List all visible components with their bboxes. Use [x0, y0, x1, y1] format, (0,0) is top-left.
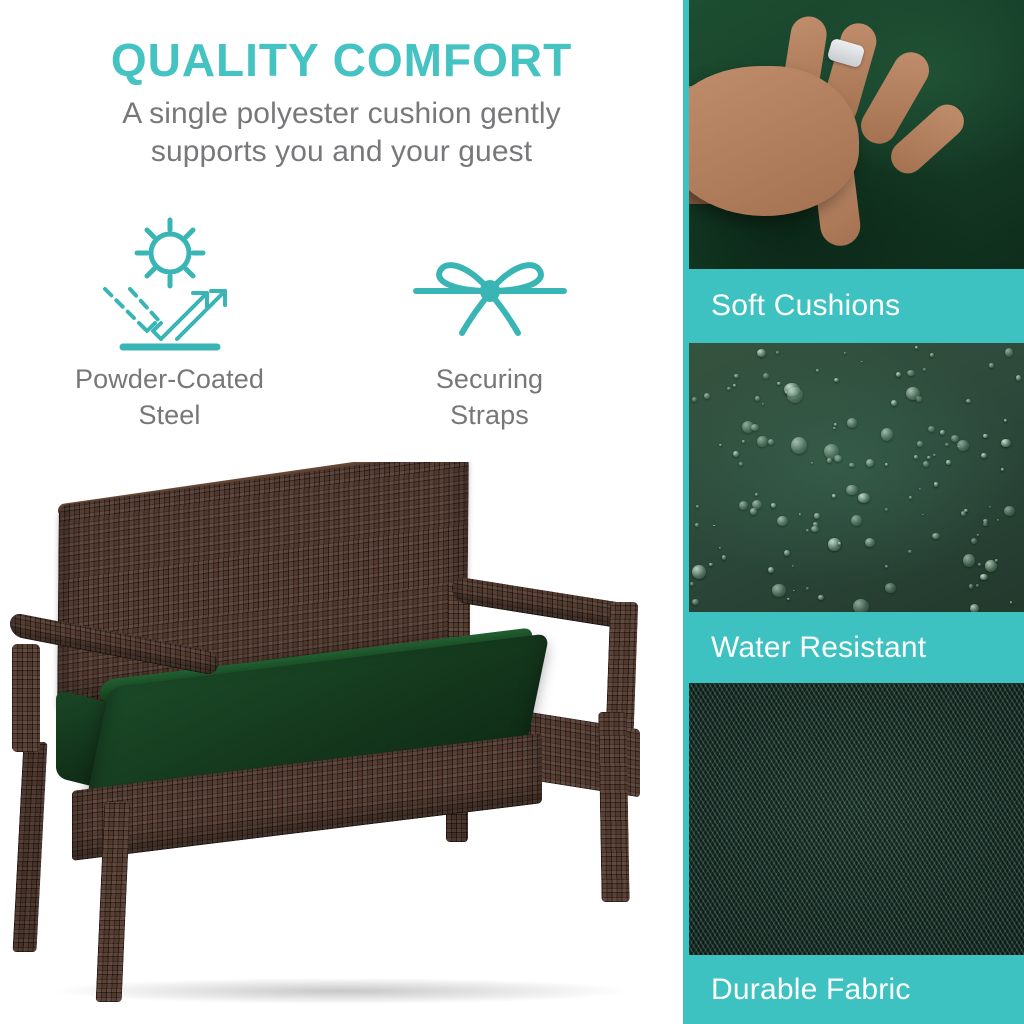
water-droplet [1004, 419, 1008, 423]
water-droplet [827, 458, 832, 463]
water-droplet [919, 488, 921, 490]
water-droplet [755, 396, 760, 401]
water-droplet [719, 547, 722, 549]
water-droplet [906, 387, 920, 401]
hand-pressing-cushion-photo [689, 0, 1024, 269]
water-droplet [977, 534, 980, 537]
water-droplet [757, 436, 768, 447]
panel-caption-soft-cushions: Soft Cushions [683, 269, 1024, 343]
water-droplet [704, 393, 711, 399]
bench-arm-left-post [12, 644, 40, 752]
water-droplet [792, 565, 794, 567]
feature-icon-row: Powder-Coated Steel Se [0, 212, 683, 433]
water-droplet [784, 550, 790, 556]
water-droplet [806, 587, 809, 590]
water-droplet [787, 387, 803, 403]
hand-palm [689, 66, 859, 216]
water-droplet [914, 455, 918, 459]
water-droplet [1001, 439, 1011, 447]
water-droplet [692, 565, 707, 579]
water-droplet [1001, 468, 1005, 471]
water-droplet [885, 565, 888, 567]
water-droplet [739, 462, 743, 466]
water-droplet [811, 462, 813, 464]
water-droplet [940, 430, 945, 435]
water-droplet [971, 538, 977, 544]
feature-label-line1: Powder-Coated [20, 362, 320, 398]
water-droplet [1016, 375, 1022, 381]
water-droplet [985, 560, 996, 572]
water-droplet [719, 444, 722, 447]
water-droplet [885, 583, 897, 592]
water-droplet [793, 590, 796, 592]
bench-leg-back-left [12, 742, 47, 952]
water-droplet [755, 493, 758, 496]
water-droplets-photo [689, 343, 1024, 612]
water-droplet [885, 508, 888, 511]
feature-securing-straps: Securing Straps [340, 212, 640, 433]
feature-icon-container [340, 212, 640, 362]
water-droplet [964, 509, 968, 513]
water-droplet [772, 584, 787, 597]
water-droplet [851, 515, 862, 526]
water-droplet [932, 533, 940, 540]
water-droplet [816, 369, 819, 372]
water-droplet [834, 423, 837, 426]
water-droplet [989, 506, 991, 508]
water-droplet [713, 525, 715, 527]
feature-icon-container [20, 212, 320, 362]
water-droplet [989, 363, 994, 367]
water-droplet [963, 554, 975, 567]
woven-fabric-texture-photo [689, 683, 1024, 955]
water-droplet [896, 372, 901, 377]
page-subtitle: A single polyester cushion gently suppor… [0, 95, 683, 172]
product-photo-bench [0, 462, 683, 1024]
water-droplet [750, 508, 757, 514]
water-droplet [768, 439, 774, 445]
water-droplet [695, 523, 699, 528]
water-droplet [966, 399, 971, 403]
water-droplet [945, 443, 949, 446]
feature-panel-soft-cushions [683, 0, 1024, 269]
water-droplet [915, 346, 918, 349]
water-droplet [832, 494, 837, 498]
water-droplet [907, 370, 915, 376]
water-droplet [838, 542, 841, 545]
feature-panel-durable-fabric [683, 683, 1024, 955]
water-droplet [1010, 601, 1012, 603]
feature-powder-coated-steel: Powder-Coated Steel [20, 212, 320, 433]
water-droplet [734, 374, 739, 378]
ribbon-bow-icon [410, 239, 570, 349]
water-droplet [853, 599, 870, 612]
water-droplet [692, 599, 699, 605]
water-droplet [757, 349, 767, 357]
water-droplet [891, 400, 897, 406]
water-droplet [733, 384, 737, 387]
water-droplet [742, 440, 745, 443]
water-droplet [696, 505, 699, 508]
water-droplet [909, 496, 912, 499]
water-droplet [690, 582, 694, 586]
bench-armrest-right [452, 576, 632, 631]
water-droplet [806, 529, 809, 532]
water-droplet [908, 550, 912, 553]
panel-caption-durable-fabric: Durable Fabric [683, 955, 1024, 1024]
water-droplet [722, 555, 727, 560]
page-subtitle-line1: A single polyester cushion gently [0, 95, 683, 133]
water-droplet [847, 418, 857, 428]
water-droplet [865, 538, 875, 547]
water-droplet [844, 352, 847, 354]
page-subtitle-line2: supports you and your guest [0, 133, 683, 171]
water-droplet [917, 441, 924, 447]
water-droplet [791, 437, 807, 454]
water-droplet [923, 368, 926, 371]
water-droplet [980, 574, 988, 581]
feature-label-line2: Straps [340, 398, 640, 434]
water-droplet [692, 397, 697, 402]
water-droplet [833, 427, 836, 429]
bench-illustration [0, 462, 683, 1024]
water-droplet [771, 503, 777, 508]
water-droplet [981, 453, 987, 458]
water-droplet [709, 563, 712, 567]
water-droplet [970, 604, 979, 612]
water-droplet [930, 353, 934, 357]
water-droplet [976, 584, 979, 587]
water-droplet [776, 351, 779, 354]
water-droplet [1004, 506, 1015, 516]
water-droplet [885, 463, 888, 466]
water-droplet [814, 513, 819, 518]
water-droplet [933, 454, 936, 456]
water-droplet [866, 459, 874, 467]
panel-caption-water-resistant: Water Resistant [683, 612, 1024, 683]
bench-leg-front-right [598, 712, 629, 902]
water-droplet [811, 526, 819, 532]
feature-label: Securing Straps [340, 362, 640, 433]
bench-floor-shadow [56, 978, 626, 1004]
water-droplet [727, 387, 731, 390]
left-content-column: QUALITY COMFORT A single polyester cushi… [0, 0, 683, 1024]
water-droplet [768, 567, 774, 573]
water-droplet [928, 426, 935, 432]
water-droplet [922, 514, 924, 516]
water-droplet [849, 463, 855, 468]
droplet-layer [689, 343, 1024, 612]
water-droplet [733, 451, 738, 457]
water-droplet [818, 595, 824, 601]
water-droplet [834, 378, 839, 382]
water-droplet [751, 424, 759, 431]
water-droplet [762, 403, 764, 405]
sun-uv-resistant-icon [95, 217, 245, 357]
feature-panel-water-resistant [683, 343, 1024, 612]
water-droplet [946, 460, 950, 465]
water-droplet [787, 598, 789, 600]
water-droplet [927, 456, 930, 459]
water-droplet [923, 461, 929, 467]
water-droplet [978, 563, 981, 566]
water-droplet [846, 485, 857, 496]
water-droplet [1005, 348, 1013, 357]
feature-label-line2: Steel [20, 398, 320, 434]
water-droplet [983, 434, 988, 439]
water-droplet [969, 584, 974, 589]
feature-label: Powder-Coated Steel [20, 362, 320, 433]
water-droplet [861, 361, 863, 363]
water-droplet [881, 428, 893, 441]
water-droplet [799, 513, 802, 516]
feature-label-line1: Securing [340, 362, 640, 398]
water-droplet [934, 482, 938, 486]
headline-block: QUALITY COMFORT A single polyester cushi… [0, 36, 683, 172]
water-droplet [739, 501, 748, 510]
right-feature-panel-column: Soft Cushions Water Resistant Durable Fa… [683, 0, 1024, 1024]
water-droplet [763, 373, 769, 379]
page-title: QUALITY COMFORT [0, 36, 683, 85]
water-droplet [777, 382, 781, 385]
water-droplet [858, 493, 870, 503]
water-droplet [995, 559, 998, 562]
water-droplet [997, 519, 999, 521]
water-droplet [957, 440, 969, 452]
water-droplet [777, 516, 788, 527]
